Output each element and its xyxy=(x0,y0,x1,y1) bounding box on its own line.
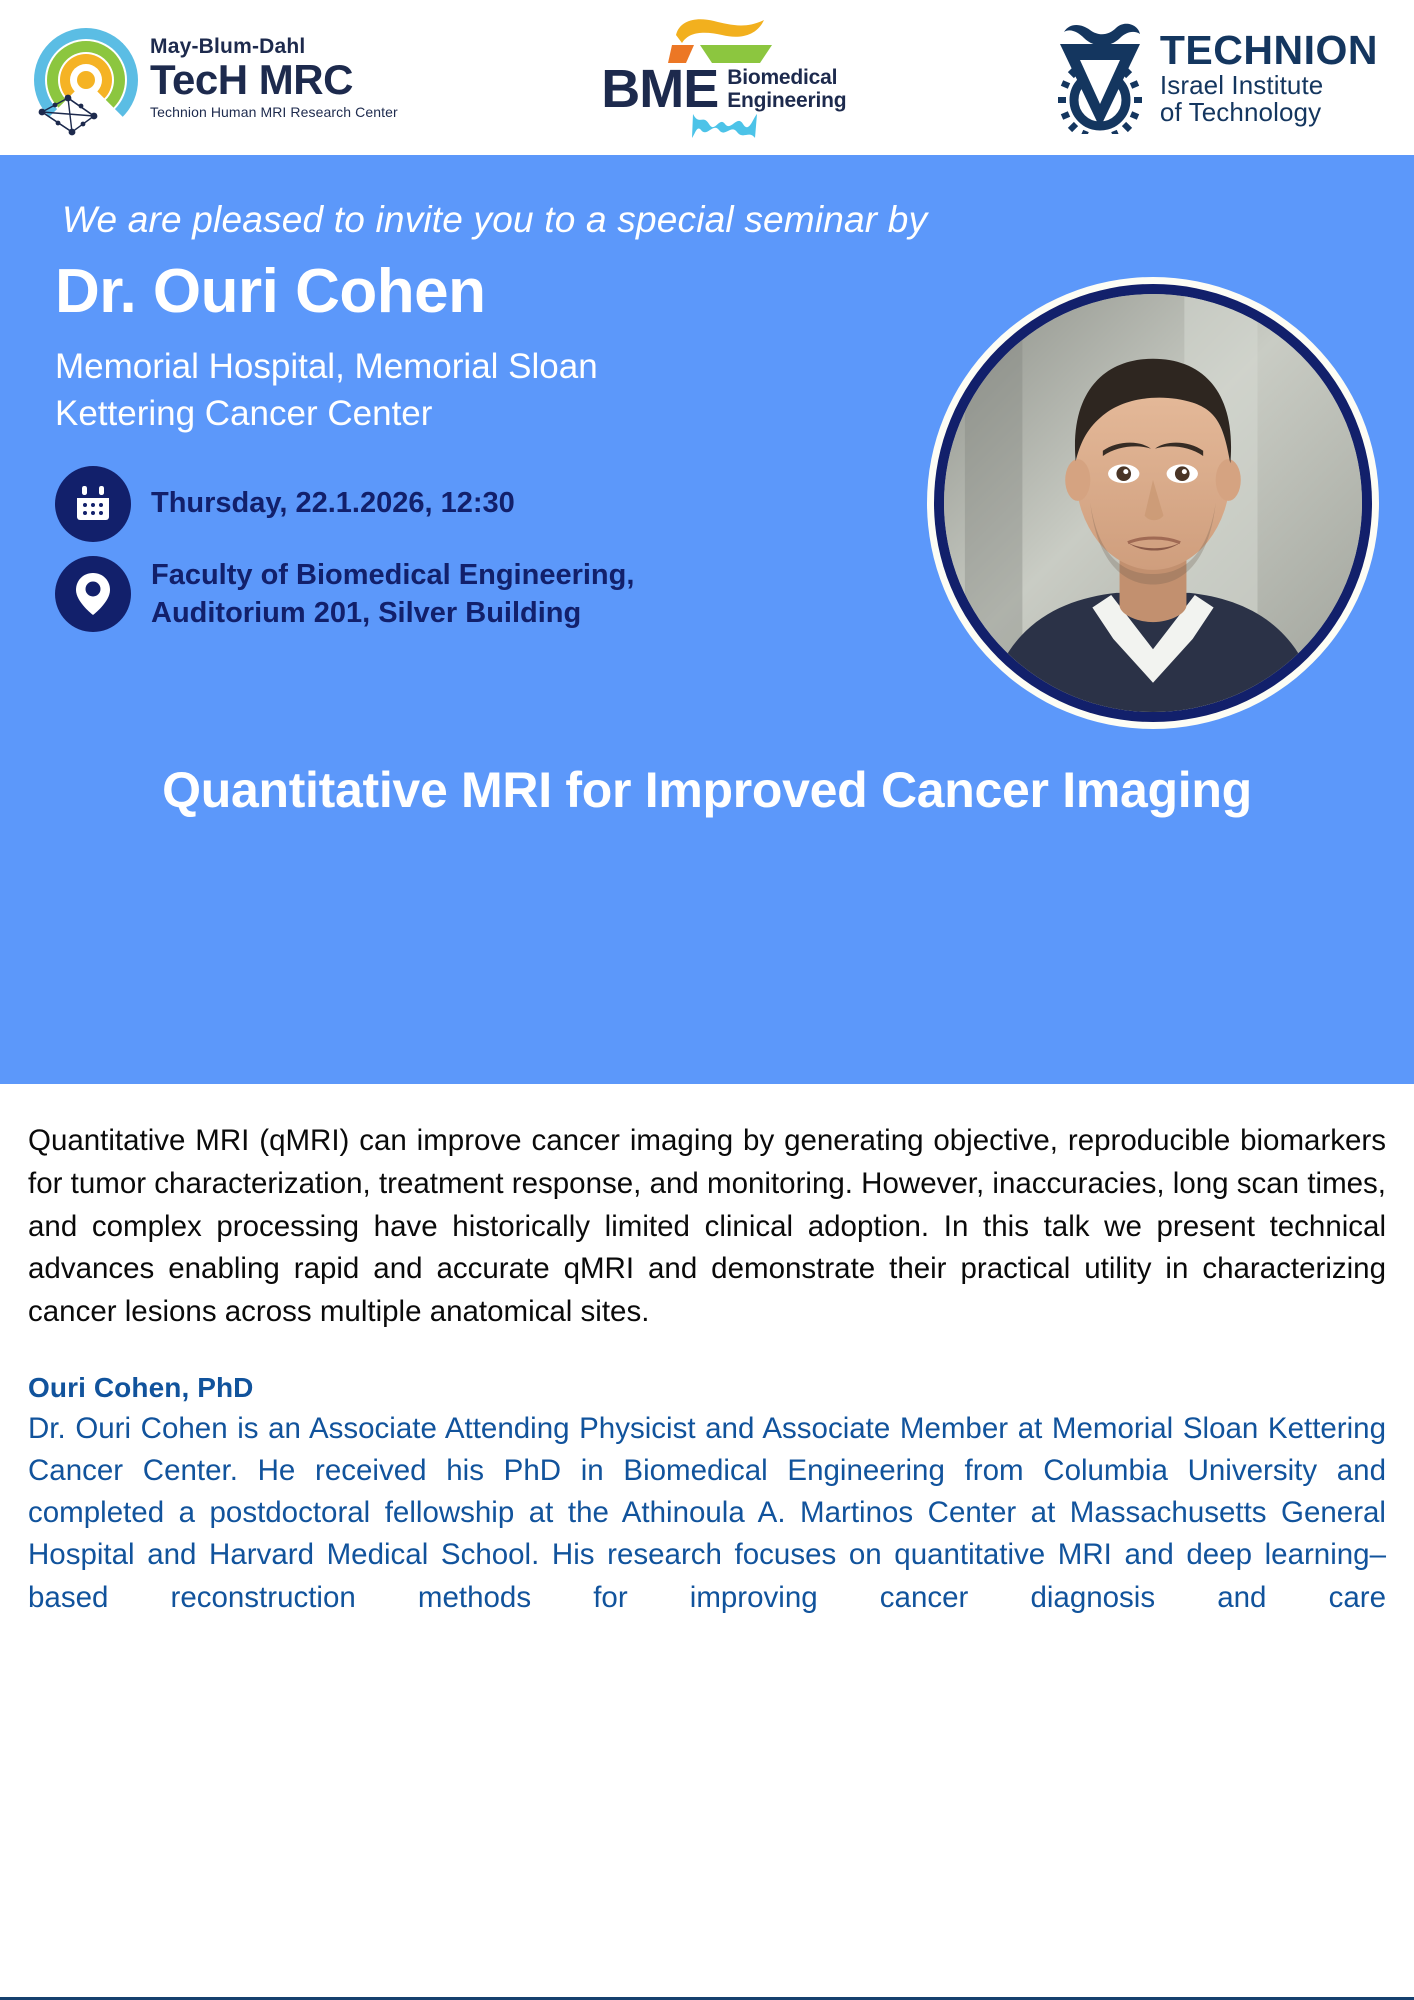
bme-wave-icon xyxy=(689,112,759,140)
bio-text: Dr. Ouri Cohen is an Associate Attending… xyxy=(28,1408,1386,1661)
speaker-photo-ring xyxy=(934,284,1372,722)
speaker-photo xyxy=(944,294,1362,712)
technion-line-3: of Technology xyxy=(1160,99,1378,126)
logo-bme: BME Biomedical Engineering xyxy=(601,15,846,140)
speaker-photo-frame xyxy=(927,277,1379,729)
logo-bar: May-Blum-Dahl TecH MRC Technion Human MR… xyxy=(0,0,1414,155)
content-section: Quantitative MRI (qMRI) can improve canc… xyxy=(0,1084,1414,1661)
location-pin-icon xyxy=(55,556,131,632)
bme-flame-icon xyxy=(668,15,780,65)
tech-mrc-main-line: TecH MRC xyxy=(150,59,398,100)
logo-technion: TECHNION Israel Institute of Technology xyxy=(1050,22,1378,134)
calendar-icon xyxy=(55,466,131,542)
technion-line-2: Israel Institute xyxy=(1160,72,1378,99)
seminar-title: Quantitative MRI for Improved Cancer Ima… xyxy=(0,755,1414,826)
technion-line-1: TECHNION xyxy=(1160,29,1378,72)
speaker-affiliation: Memorial Hospital, Memorial Sloan Ketter… xyxy=(55,343,615,438)
bio-heading: Ouri Cohen, PhD xyxy=(28,1372,1386,1404)
bme-sub-line-2: Engineering xyxy=(727,90,846,112)
bme-wordmark: BME xyxy=(601,65,718,114)
bme-sub-line-1: Biomedical xyxy=(727,67,846,89)
event-location-text: Faculty of Biomedical Engineering, Audit… xyxy=(151,556,671,633)
abstract-text: Quantitative MRI (qMRI) can improve canc… xyxy=(28,1120,1386,1334)
event-date-text: Thursday, 22.1.2026, 12:30 xyxy=(151,484,515,523)
logo-tech-mrc: May-Blum-Dahl TecH MRC Technion Human MR… xyxy=(30,24,398,132)
network-nodes-icon xyxy=(38,90,100,136)
tech-mrc-top-line: May-Blum-Dahl xyxy=(150,36,398,57)
technion-emblem-icon xyxy=(1050,22,1150,134)
tech-mrc-sub-line: Technion Human MRI Research Center xyxy=(150,105,398,119)
tech-mrc-arc-icon xyxy=(30,24,142,132)
invitation-line: We are pleased to invite you to a specia… xyxy=(62,199,1414,241)
seminar-banner: We are pleased to invite you to a specia… xyxy=(0,155,1414,1084)
